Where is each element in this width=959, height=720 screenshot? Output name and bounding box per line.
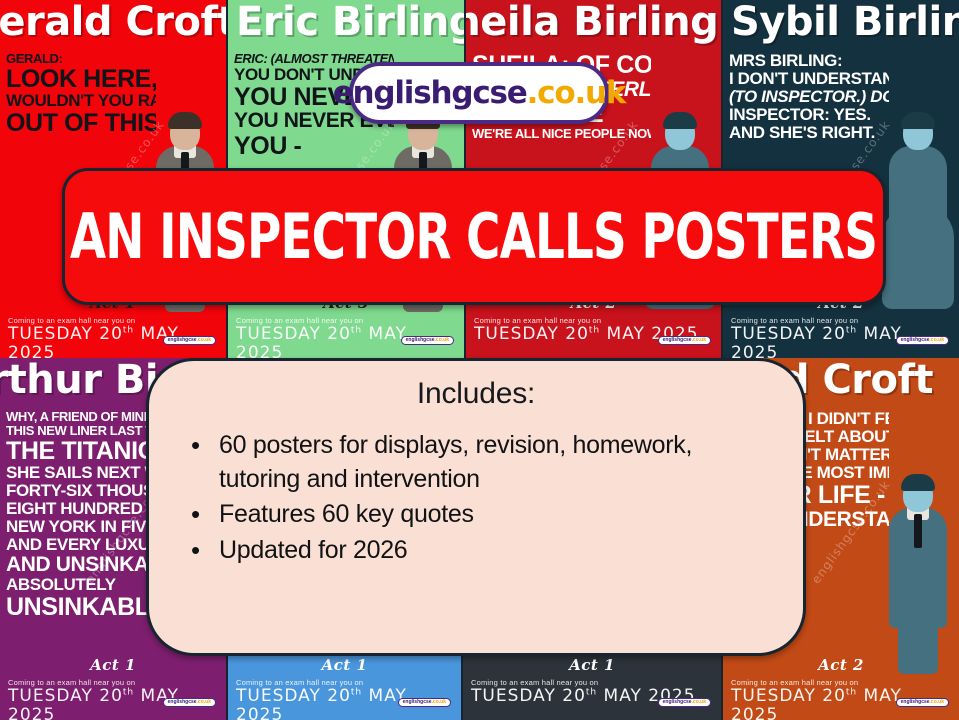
poster-act-label: Act 1 [228, 656, 461, 674]
includes-bullet-item: 60 posters for displays, revision, homew… [189, 429, 773, 496]
footer-badge-tld: .co.uk [930, 337, 944, 343]
footer-date-prefix: TUESDAY 20 [236, 324, 351, 344]
poster-quote-line: FORTY-SIX THOUSAND [6, 482, 156, 500]
footer-date-suffix-ordinal: th [846, 687, 857, 697]
main-title-banner: AN INSPECTOR CALLS POSTERS [62, 168, 886, 305]
footer-date-suffix-ordinal: th [586, 687, 597, 697]
footer-logo-badge: englishgcse.co.uk [896, 336, 949, 345]
poster-quote-line: INSPECTOR: YES. [729, 106, 889, 124]
poster-quote-line: OUT OF THIS? [6, 110, 156, 137]
footer-date-prefix: TUESDAY 20 [8, 686, 123, 706]
poster-character-name: Sheila Birling [466, 2, 717, 42]
poster-character-name: Sybil Birling [731, 2, 955, 42]
poster-quote-line: AND EVERY LUXURY - [6, 536, 156, 554]
footer-date-prefix: TUESDAY 20 [731, 686, 846, 706]
footer-badge-name: englishgcse [168, 699, 197, 705]
footer-badge-tld: .co.uk [930, 699, 944, 705]
logo-tld: .co.uk [527, 75, 626, 111]
poster-act-label: Act 1 [463, 656, 721, 674]
footer-badge-name: englishgcse [406, 337, 435, 343]
includes-bullet-list: 60 posters for displays, revision, homew… [175, 429, 777, 567]
poster-footer: Coming to an exam hall near you onTUESDA… [723, 674, 959, 720]
includes-info-box: Includes: 60 posters for displays, revis… [146, 358, 806, 656]
character-illustration [881, 474, 955, 674]
poster-quote-line: MRS BIRLING: [729, 52, 889, 70]
footer-badge-tld: .co.uk [435, 337, 449, 343]
poster-quote-line: (TO INSPECTOR.) DO YOU? [729, 88, 889, 106]
poster-act-label: Act 2 [723, 656, 959, 674]
includes-bullet-item: Features 60 key quotes [189, 498, 773, 532]
englishgcse-logo: englishgcse.co.uk [349, 62, 609, 124]
poster-quote-line: SHE SAILS NEXT WEEK - [6, 464, 156, 482]
footer-badge-name: englishgcse [403, 699, 432, 705]
character-illustration [881, 112, 955, 312]
footer-date-prefix: TUESDAY 20 [471, 686, 586, 706]
footer-date-prefix: TUESDAY 20 [731, 324, 846, 344]
footer-badge-tld: .co.uk [197, 699, 211, 705]
poster-footer: Coming to an exam hall near you onTUESDA… [228, 674, 461, 720]
poster-character-name: Eric Birling [236, 2, 460, 42]
footer-badge-name: englishgcse [663, 337, 692, 343]
footer-badge-tld: .co.uk [692, 337, 706, 343]
footer-logo-badge: englishgcse.co.uk [896, 698, 949, 707]
poster-quote-line: UNSINKABLE. [6, 594, 156, 621]
footer-badge-tld: .co.uk [692, 699, 706, 705]
footer-date-prefix: TUESDAY 20 [8, 324, 123, 344]
includes-bullet-item: Updated for 2026 [189, 534, 773, 568]
poster-quote-line: LOOK HERE, SIR. [6, 66, 156, 93]
footer-date-suffix-ordinal: th [351, 325, 362, 335]
footer-logo-badge: englishgcse.co.uk [163, 336, 216, 345]
footer-badge-tld: .co.uk [197, 337, 211, 343]
poster-quote-line: AND UNSINKABLE, [6, 554, 156, 576]
page-title: AN INSPECTOR CALLS POSTERS [70, 206, 877, 268]
footer-badge-tld: .co.uk [432, 699, 446, 705]
logo-name: englishgcse [333, 75, 527, 111]
footer-badge-name: englishgcse [663, 699, 692, 705]
poster-footer: Coming to an exam hall near you onTUESDA… [466, 312, 721, 358]
poster-quote-line: I DON'T UNDERSTAND YOU. [729, 70, 889, 88]
poster-quote-line: WOULDN'T YOU RATHER I WAS [6, 92, 156, 110]
footer-badge-name: englishgcse [901, 699, 930, 705]
poster-quote-line: THE TITANIC - [6, 438, 156, 465]
footer-logo-badge: englishgcse.co.uk [401, 336, 454, 345]
footer-date-prefix: TUESDAY 20 [474, 324, 589, 344]
poster-footer: Coming to an exam hall near you onTUESDA… [0, 312, 226, 358]
poster-collage-image: Gerald CroftGERALD:LOOK HERE, SIR.WOULDN… [0, 0, 959, 720]
poster-footer: Coming to an exam hall near you onTUESDA… [463, 674, 721, 720]
footer-date-suffix-ordinal: th [351, 687, 362, 697]
poster-quote-line: THIS NEW LINER LAST WEEK - [6, 424, 156, 438]
footer-date-suffix-ordinal: th [589, 325, 600, 335]
poster-quote-line: GERALD: [6, 52, 156, 66]
footer-date-suffix-ordinal: th [846, 325, 857, 335]
footer-date-prefix: TUESDAY 20 [236, 686, 351, 706]
poster-character-name: Gerald Croft [0, 2, 222, 42]
footer-date-suffix-ordinal: th [123, 687, 134, 697]
poster-quote: GERALD:LOOK HERE, SIR.WOULDN'T YOU RATHE… [6, 52, 156, 137]
footer-logo-badge: englishgcse.co.uk [163, 698, 216, 707]
poster-footer: Coming to an exam hall near you onTUESDA… [228, 312, 464, 358]
footer-logo-badge: englishgcse.co.uk [658, 698, 711, 707]
footer-badge-name: englishgcse [168, 337, 197, 343]
footer-badge-name: englishgcse [901, 337, 930, 343]
poster-quote-line: WHY, A FRIEND OF MINE WENT OVER [6, 410, 156, 424]
logo-text: englishgcse.co.uk [333, 75, 626, 111]
poster-quote: MRS BIRLING:I DON'T UNDERSTAND YOU.(TO I… [729, 52, 889, 142]
poster-quote-line: ABSOLUTELY [6, 576, 156, 594]
footer-logo-badge: englishgcse.co.uk [658, 336, 711, 345]
poster-act-label: Act 1 [0, 656, 226, 674]
footer-date-suffix-ordinal: th [123, 325, 134, 335]
poster-footer: Coming to an exam hall near you onTUESDA… [723, 312, 959, 358]
poster-footer: Coming to an exam hall near you onTUESDA… [0, 674, 226, 720]
footer-logo-badge: englishgcse.co.uk [398, 698, 451, 707]
includes-heading: Includes: [175, 377, 777, 411]
